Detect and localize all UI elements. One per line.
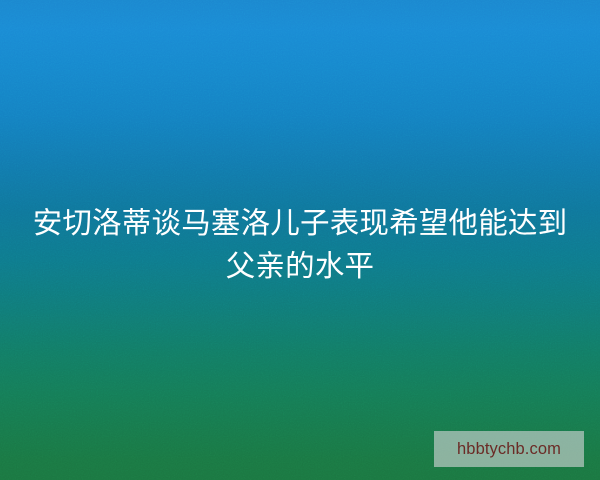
headline-line-1: 安切洛蒂谈马塞洛儿子表现希望他能达到 xyxy=(22,202,578,245)
site-watermark: hbbtychb.com xyxy=(434,431,584,467)
headline-line-2: 父亲的水平 xyxy=(22,245,578,288)
page-title: 安切洛蒂谈马塞洛儿子表现希望他能达到 父亲的水平 xyxy=(0,202,600,288)
share-card-canvas: 安切洛蒂谈马塞洛儿子表现希望他能达到 父亲的水平 hbbtychb.com xyxy=(0,0,600,480)
watermark-domain-text: hbbtychb.com xyxy=(457,440,561,459)
